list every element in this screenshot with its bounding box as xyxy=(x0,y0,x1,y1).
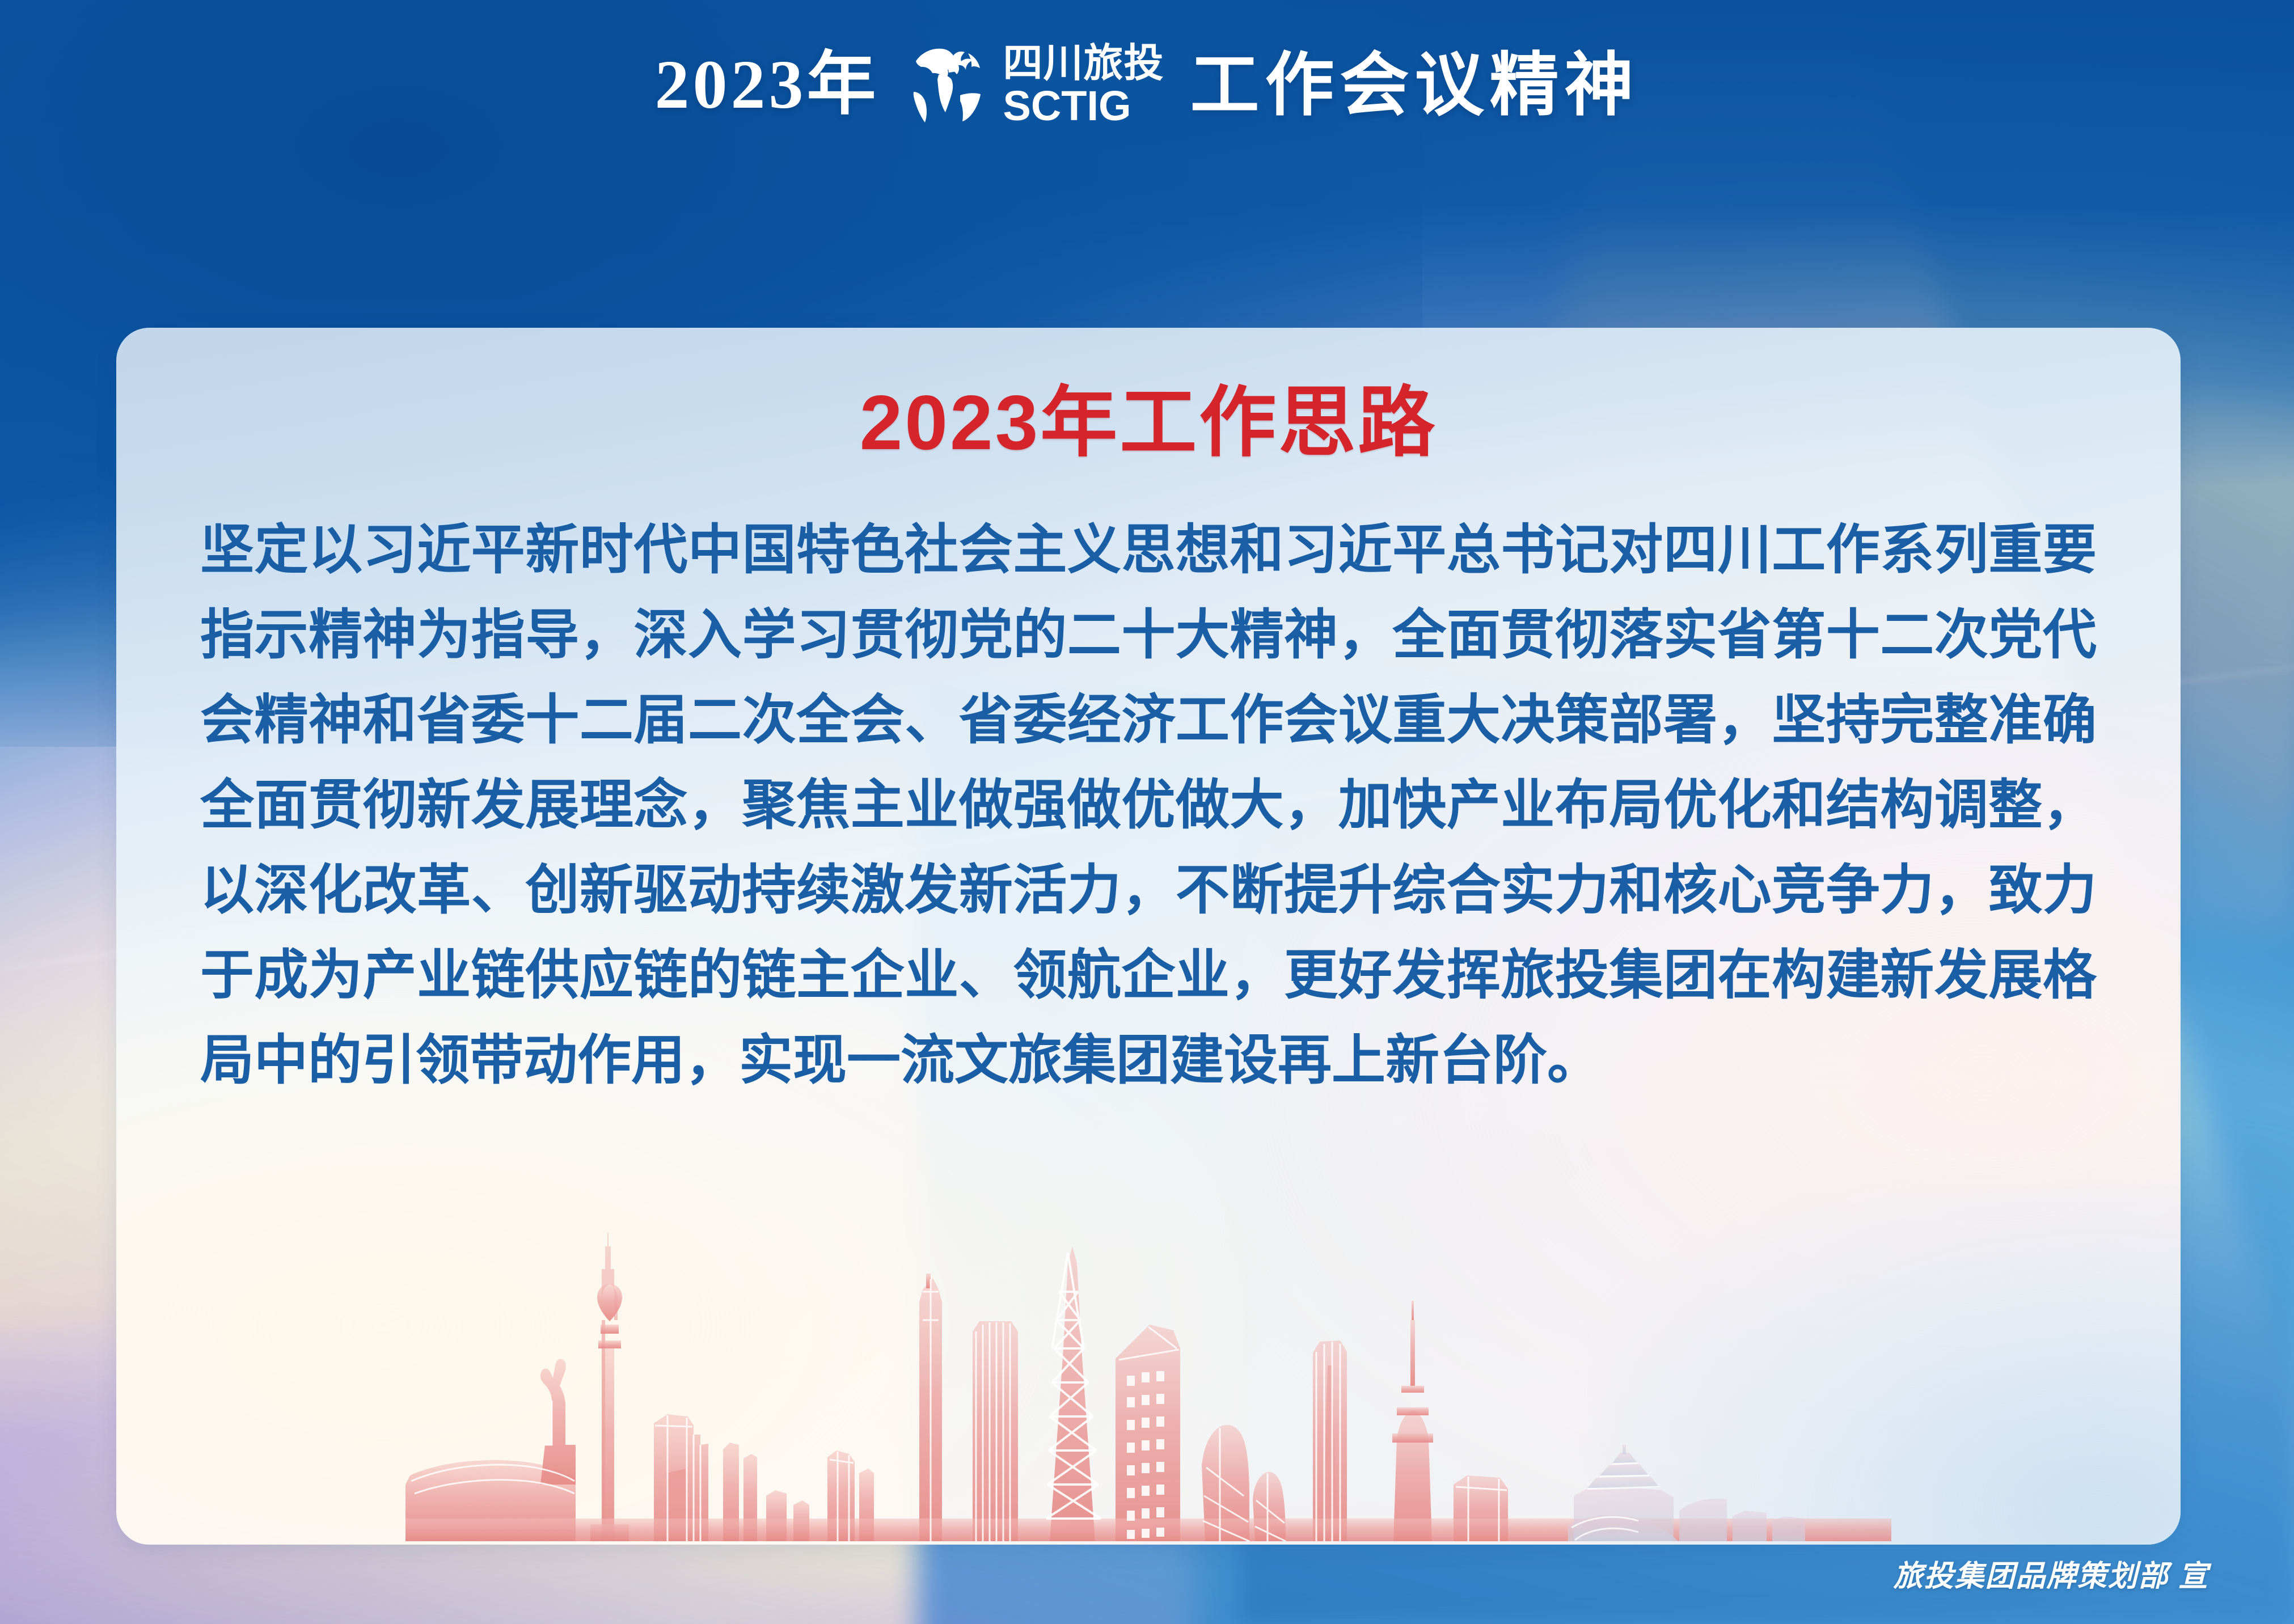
brand-logo-lockup: 四川旅投 SCTIG xyxy=(906,40,1164,130)
brand-name-cn: 四川旅投 xyxy=(1003,43,1164,83)
footer-credit: 旅投集团品牌策划部 宣 xyxy=(1894,1552,2209,1595)
brand-name-en: SCTIG xyxy=(1003,85,1131,127)
content-card: 2023年工作思路 坚定以习近平新时代中国特色社会主义思想和习近平总书记对四川工… xyxy=(116,328,2181,1545)
header-year-label: 2023年 xyxy=(655,50,880,120)
city-skyline-illustration xyxy=(405,1178,1891,1541)
card-title: 2023年工作思路 xyxy=(200,382,2097,463)
card-body-text: 坚定以习近平新时代中国特色社会主义思想和习近平总书记对四川工作系列重要指示精神为… xyxy=(200,508,2097,1103)
globe-logo-icon xyxy=(906,40,991,130)
page-header: 2023年 四川旅投 SCTIG 工作会议精神 xyxy=(0,0,2294,170)
card-content: 2023年工作思路 坚定以习近平新时代中国特色社会主义思想和习近平总书记对四川工… xyxy=(116,328,2181,1103)
brand-logo-wordmark: 四川旅投 SCTIG xyxy=(1003,43,1164,127)
header-suffix-label: 工作会议精神 xyxy=(1190,50,1640,120)
